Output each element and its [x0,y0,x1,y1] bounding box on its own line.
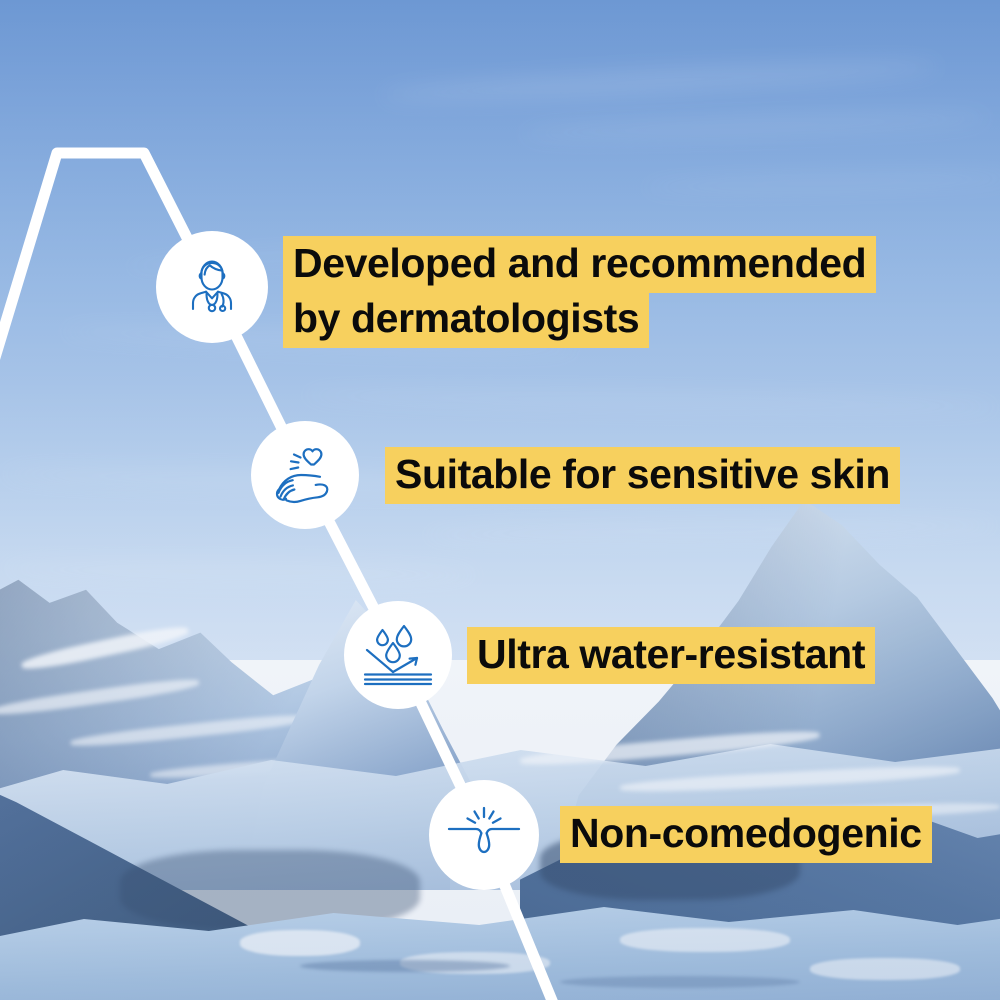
ice-chunk [810,958,960,980]
water-droplets-repel-icon [361,622,435,688]
label-non-comedogenic: Non-comedogenic [560,806,932,863]
feature-node-dermatologists[interactable] [156,231,268,343]
feature-node-water-resistant[interactable] [344,601,452,709]
crevasse [300,960,510,972]
label-line: Ultra water-resistant [467,627,875,684]
label-line: Suitable for sensitive skin [385,447,900,504]
label-line: Non-comedogenic [560,806,932,863]
doctor-stethoscope-icon [177,252,247,322]
label-dermatologists: Developed and recommended by dermatologi… [283,236,876,348]
feature-node-sensitive-skin[interactable] [251,421,359,529]
ice-chunk [620,928,790,952]
skin-pore-icon [447,804,521,866]
label-line: Developed and recommended [283,236,876,293]
label-water-resistant: Ultra water-resistant [467,627,875,684]
crevasse [560,976,800,988]
infographic-canvas: Developed and recommended by dermatologi… [0,0,1000,1000]
hand-heart-icon [269,442,341,508]
feature-node-non-comedogenic[interactable] [429,780,539,890]
label-line: by dermatologists [283,291,649,348]
label-sensitive-skin: Suitable for sensitive skin [385,447,900,504]
ice-chunk [240,930,360,956]
